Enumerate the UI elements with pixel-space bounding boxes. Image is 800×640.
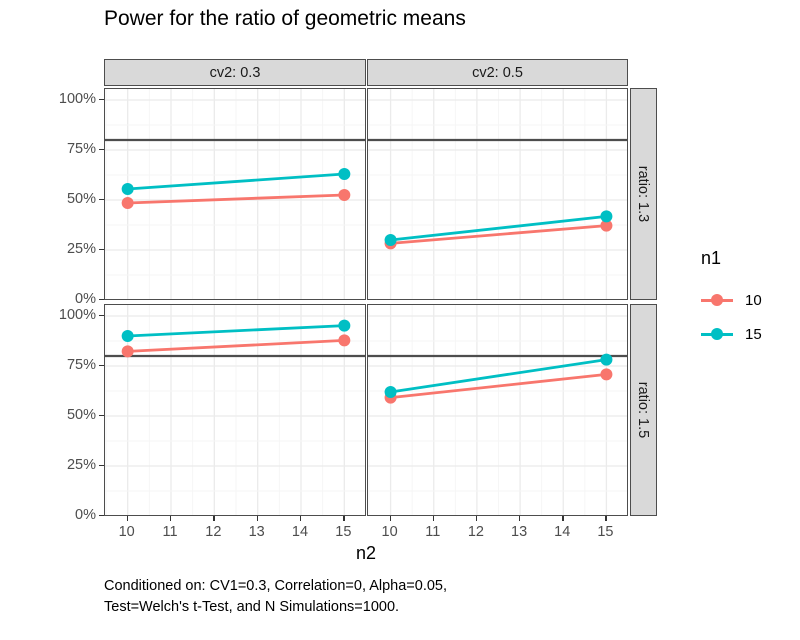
facet-strip-col-label: cv2: 0.3 [210,65,261,81]
data-point-15 [600,210,612,222]
data-point-15 [600,354,612,366]
panel-1-1 [367,304,628,516]
legend: n1 1015 [700,248,762,351]
data-point-15 [338,320,350,332]
legend-title: n1 [700,248,762,269]
facet-strip-row-1: ratio: 1.5 [630,304,657,516]
x-tick-mark [170,516,171,521]
x-tick-label: 12 [198,524,228,540]
x-tick-mark [127,516,128,521]
data-point-10 [122,197,134,209]
y-tick-label: 75% [40,357,96,373]
x-tick-label: 13 [242,524,272,540]
facet-strip-row-label: ratio: 1.3 [636,166,652,222]
y-tick-label: 0% [40,291,96,307]
facet-strip-col-1: cv2: 0.5 [367,59,628,86]
data-point-10 [122,345,134,357]
x-tick-label: 10 [375,524,405,540]
panel-1-0 [104,304,366,516]
y-tick-label: 100% [40,307,96,323]
x-tick-label: 14 [547,524,577,540]
y-tick-mark [99,299,104,300]
y-tick-mark [99,315,104,316]
x-tick-label: 15 [590,524,620,540]
page-title: Power for the ratio of geometric means [104,7,466,31]
legend-key-dot [711,294,723,306]
x-tick-mark [343,516,344,521]
x-tick-mark [390,516,391,521]
data-point-15 [385,234,397,246]
data-point-10 [338,189,350,201]
x-axis-title: n2 [104,543,628,564]
facet-strip-row-label: ratio: 1.5 [636,382,652,438]
x-tick-label: 11 [418,524,448,540]
x-tick-mark [519,516,520,521]
y-tick-mark [99,249,104,250]
x-tick-label: 14 [285,524,315,540]
y-tick-mark [99,415,104,416]
y-tick-mark [99,465,104,466]
legend-label: 10 [745,292,762,309]
facet-strip-col-label: cv2: 0.5 [472,65,523,81]
panel-0-1 [367,88,628,300]
x-tick-label: 13 [504,524,534,540]
data-point-10 [338,334,350,346]
legend-item-15[interactable]: 15 [700,317,762,351]
legend-key-dot [711,328,723,340]
data-point-15 [385,386,397,398]
y-tick-label: 25% [40,241,96,257]
y-tick-mark [99,515,104,516]
data-point-15 [122,330,134,342]
x-tick-mark [300,516,301,521]
y-tick-label: 75% [40,141,96,157]
chart-root: Power for the ratio of geometric means P… [0,0,800,640]
legend-key-icon [700,283,734,317]
y-tick-label: 100% [40,91,96,107]
x-tick-mark [257,516,258,521]
y-tick-label: 50% [40,191,96,207]
data-point-15 [122,183,134,195]
legend-key-icon [700,317,734,351]
y-tick-label: 50% [40,407,96,423]
y-tick-mark [99,365,104,366]
legend-label: 15 [745,326,762,343]
x-tick-mark [562,516,563,521]
x-tick-label: 11 [155,524,185,540]
y-tick-label: 0% [40,507,96,523]
y-tick-mark [99,199,104,200]
y-tick-mark [99,99,104,100]
legend-item-10[interactable]: 10 [700,283,762,317]
x-tick-label: 10 [112,524,142,540]
chart-caption: Conditioned on: CV1=0.3, Correlation=0, … [104,576,447,617]
x-tick-label: 15 [328,524,358,540]
y-tick-label: 25% [40,457,96,473]
data-point-10 [600,368,612,380]
panel-0-0 [104,88,366,300]
y-tick-mark [99,149,104,150]
x-tick-label: 12 [461,524,491,540]
data-point-15 [338,168,350,180]
legend-items: 1015 [700,283,762,351]
x-tick-mark [605,516,606,521]
x-tick-mark [433,516,434,521]
x-tick-mark [213,516,214,521]
x-tick-mark [476,516,477,521]
facet-strip-row-0: ratio: 1.3 [630,88,657,300]
facet-strip-col-0: cv2: 0.3 [104,59,366,86]
